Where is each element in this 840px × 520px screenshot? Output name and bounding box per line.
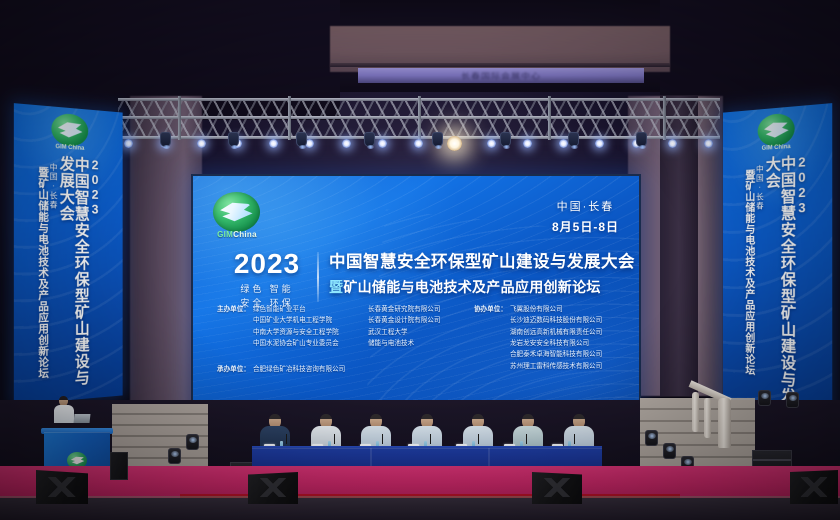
moving-head-light (186, 434, 199, 450)
balustrade-right (690, 380, 734, 452)
organizer-credit-group: 承办单位： 合肥绿色矿冶科技咨询有限公司 (217, 363, 345, 373)
banner-right-year: 2023 (795, 154, 808, 425)
banner-left-text-columns: 2023 中国智慧安全环保型矿山建设与发展大会 中国·长春 暨矿山储能与电池技术… (14, 153, 123, 401)
cohost-org: 龙岩龙安安全科技有限公司 (510, 338, 602, 349)
banner-left-title-main: 中国智慧安全环保型矿山建设与发展大会 (58, 155, 88, 397)
truss-moving-head (500, 132, 511, 147)
led-backdrop-screen: GIMChina 中国·长春 8月5日-8日 2023 绿色 智能 安全 环保 … (193, 176, 639, 419)
cohost-org: 合肥泰禾卓海智能科技有限公司 (510, 349, 602, 360)
table-microphone (334, 434, 335, 444)
gim-logo-text-rest: China (233, 230, 257, 239)
spotlight (378, 139, 387, 148)
spotlight (704, 139, 713, 148)
moving-head-light (758, 390, 771, 406)
host-org: 长春黄金研究院有限公司 (368, 304, 460, 315)
stage-scene: 长春国际会展中心 GIM China 2023 中国智慧安全环保型矿山建设与发展… (0, 0, 840, 520)
cohost-org: 苏州理工雷科传感技术有限公司 (510, 361, 602, 372)
truss-moving-head (296, 132, 307, 147)
balustrade-newel (718, 398, 731, 448)
banner-right-logo-text: GIM China (754, 143, 799, 152)
event-title-sub-prefix: 暨 (329, 279, 343, 295)
host-org: 中国水泥协会矿山专业委员会 (253, 338, 365, 349)
truss-moving-head (568, 132, 579, 147)
spotlight (668, 139, 677, 148)
truss-moving-head (432, 132, 443, 147)
truss-moving-head (364, 132, 375, 147)
truss-moving-head (160, 132, 171, 147)
spotlight (124, 139, 133, 148)
banner-right-gim-logo: GIM China (754, 112, 799, 157)
vertical-banner-right: GIM China 2023 中国智慧安全环保型矿山建设与发展大会 中国·长春 … (723, 103, 832, 431)
table-microphone (574, 434, 575, 444)
host-org: 武汉工程大学 (368, 327, 460, 338)
gim-china-logo: GIMChina (208, 192, 266, 244)
balustrade-post (692, 392, 699, 432)
event-slogan-line1: 绿色 智能 (221, 283, 313, 297)
host-org: 绿色智能矿业平台 (253, 304, 365, 315)
organizer-label: 承办单位： (217, 363, 250, 373)
event-location-block: 中国·长春 8月5日-8日 (552, 198, 619, 235)
cohost-org: 湖南创远高新机械有限责任公司 (510, 327, 602, 338)
floor-monitor (790, 470, 838, 504)
truss-upright (288, 96, 291, 140)
host-org: 中国矿业大学机电工程学院 (253, 315, 365, 326)
spotlight (342, 139, 351, 148)
host-orgs-column-b: 长春黄金研究院有限公司长春黄金设计院有限公司武汉工程大学储能与电池技术 (368, 304, 460, 372)
host-credit-group: 主办单位： 绿色智能矿业平台中国矿业大学机电工程学院中南大学资源与安全工程学院中… (217, 304, 460, 372)
table-microphone (526, 434, 527, 444)
gim-logo-text-g: GIM (217, 230, 233, 239)
spotlight (269, 139, 278, 148)
cohost-org: 飞翼股份有限公司 (510, 304, 602, 315)
host-org: 长春黄金设计院有限公司 (368, 315, 460, 326)
lighting-truss (118, 96, 720, 140)
cohost-label: 协办单位： (474, 304, 507, 372)
event-year: 2023 (221, 250, 313, 278)
stage-front-ledge (0, 498, 840, 520)
balustrade-post (704, 398, 711, 438)
moving-head-light (645, 430, 658, 446)
truss-upright (548, 96, 551, 140)
floor-monitor (248, 472, 298, 504)
banner-left-gim-logo: GIM China (47, 112, 92, 157)
host-org: 储能与电池技术 (368, 338, 460, 349)
table-microphone (286, 434, 287, 444)
event-title-sub-text: 矿山储能与电池技术及产品应用创新论坛 (343, 279, 600, 295)
event-year-block: 2023 绿色 智能 安全 环保 (221, 250, 313, 310)
cohost-credit-group: 协办单位： 飞翼股份有限公司长沙迪迈数码科技股份有限公司湖南创远高新机械有限责任… (474, 304, 602, 372)
gim-logo-text: GIMChina (208, 230, 266, 239)
spotlight (487, 139, 496, 148)
banner-left-title-sub: 暨矿山储能与电池技术及产品应用创新论坛 (38, 154, 49, 399)
case-rail (753, 459, 791, 461)
cohost-orgs-list: 飞翼股份有限公司长沙迪迈数码科技股份有限公司湖南创远高新机械有限责任公司龙岩龙安… (510, 304, 602, 372)
truss-moving-head (636, 132, 647, 147)
banner-right-location: 中国·长春 (756, 157, 764, 421)
side-speaker (110, 452, 128, 480)
pillar-right (660, 96, 698, 396)
event-title-sub: 暨矿山储能与电池技术及产品应用创新论坛 (329, 277, 629, 297)
moving-head-light (786, 392, 799, 408)
event-title-block: 中国智慧安全环保型矿山建设与发展大会 暨矿山储能与电池技术及产品应用创新论坛 (329, 252, 629, 297)
table-microphone (430, 434, 431, 444)
upper-venue-sign: 长春国际会展中心 (358, 68, 644, 83)
truss-upright (663, 96, 666, 140)
floor-monitor (36, 470, 88, 504)
cohost-org: 长沙迪迈数码科技股份有限公司 (510, 315, 602, 326)
floor-monitor (532, 472, 582, 504)
moving-head-light (168, 448, 181, 464)
event-city: 中国·长春 (552, 198, 619, 214)
table-microphone (382, 434, 383, 444)
moving-head-light (663, 443, 676, 459)
sponsor-credits: 主办单位： 绿色智能矿业平台中国矿业大学机电工程学院中南大学资源与安全工程学院中… (217, 304, 627, 372)
truss-upright (178, 96, 181, 140)
spotlight (197, 139, 206, 148)
spotlight (523, 139, 532, 148)
host-org: 中南大学资源与安全工程学院 (253, 327, 365, 338)
banner-left-location: 中国·长春 (49, 155, 57, 398)
upper-wall-seam (330, 63, 670, 67)
spotlight (559, 139, 568, 148)
host-label: 主办单位： (217, 304, 250, 372)
table-microphone (478, 434, 479, 444)
upper-venue-sign-text: 长春国际会展中心 (461, 70, 541, 81)
banner-right-text-columns: 2023 中国智慧安全环保型矿山建设与发展大会 中国·长春 暨矿山储能与电池技术… (723, 153, 832, 427)
banner-left-year: 2023 (89, 157, 101, 394)
vertical-banner-left: GIM China 2023 中国智慧安全环保型矿山建设与发展大会 中国·长春 … (14, 103, 123, 405)
banner-right-title-main: 中国智慧安全环保型矿山建设与发展大会 (764, 155, 794, 424)
truss-moving-head (228, 132, 239, 147)
event-title-main: 中国智慧安全环保型矿山建设与发展大会 (329, 252, 629, 273)
host-orgs-column-a: 绿色智能矿业平台中国矿业大学机电工程学院中南大学资源与安全工程学院中国水泥协会矿… (253, 304, 365, 372)
banner-left-logo-text: GIM China (47, 144, 92, 153)
event-date: 8月5日-8日 (552, 218, 619, 235)
banner-right-title-sub: 暨矿山储能与电池技术及产品应用创新论坛 (745, 157, 755, 420)
organizer-org: 合肥绿色矿冶科技咨询有限公司 (253, 363, 345, 373)
title-divider (317, 252, 319, 302)
spotlight (414, 139, 423, 148)
truss-upright (418, 96, 421, 140)
